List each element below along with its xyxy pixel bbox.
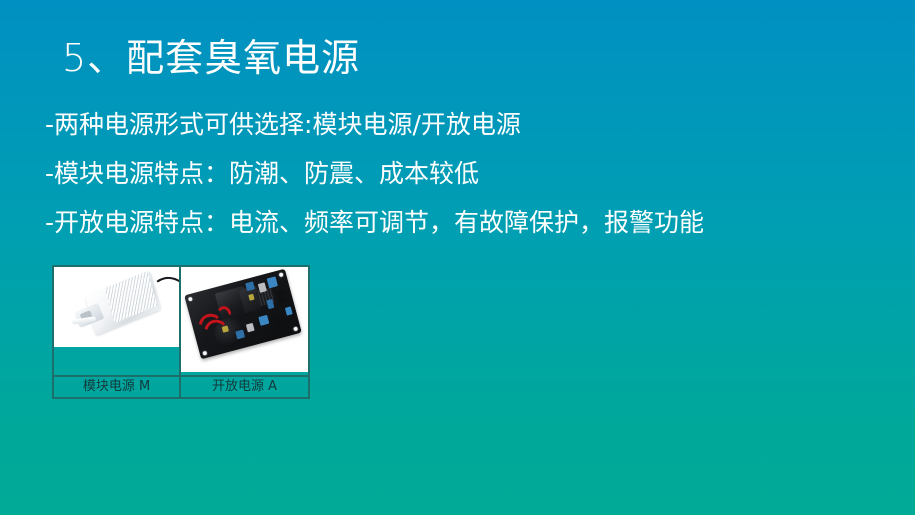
body-line-1: -两种电源形式可供选择:模块电源/开放电源 (45, 112, 875, 137)
photo-plate-open-frame (181, 267, 308, 372)
body-text-block: -两种电源形式可供选择:模块电源/开放电源 -模块电源特点：防潮、防震、成本较低… (45, 112, 875, 235)
picture-row (54, 267, 308, 375)
module-housing-ribs (105, 271, 158, 323)
picture-table: 模块电源 M 开放电源 A (52, 265, 310, 399)
caption-module-power-supply: 模块电源 M (54, 377, 181, 397)
caption-row: 模块电源 M 开放电源 A (54, 375, 308, 397)
page-title: 5、配套臭氧电源 (62, 38, 360, 80)
slide: 5、配套臭氧电源 -两种电源形式可供选择:模块电源/开放电源 -模块电源特点：防… (0, 0, 915, 515)
caption-open-frame-power-supply: 开放电源 A (181, 377, 308, 397)
picture-cell-open-frame (181, 267, 308, 375)
module-power-supply-photo (72, 277, 168, 339)
open-frame-power-supply-photo (184, 269, 302, 360)
body-line-2: -模块电源特点：防潮、防震、成本较低 (45, 161, 875, 186)
body-line-3: -开放电源特点：电流、频率可调节，有故障保护，报警功能 (45, 210, 875, 235)
picture-cell-module (54, 267, 181, 375)
photo-plate-module (54, 267, 179, 347)
